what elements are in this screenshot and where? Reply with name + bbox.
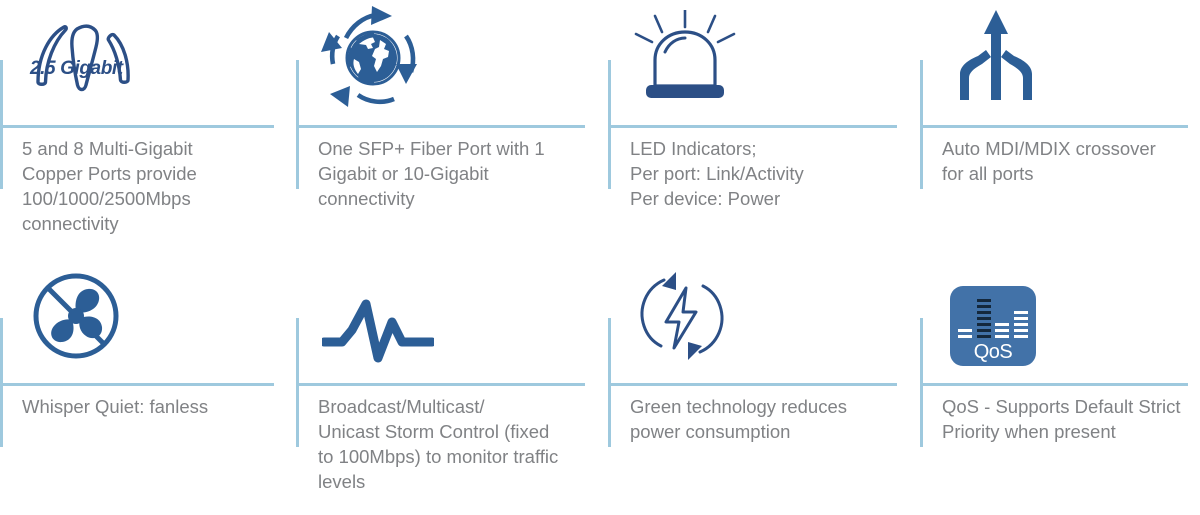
qos-icon-label: QoS <box>950 342 1036 362</box>
feature-caption: Green technology reduces power consumpti… <box>630 394 896 444</box>
beacon-light-icon <box>630 2 790 114</box>
feature-caption: 5 and 8 Multi-Gigabit Copper Ports provi… <box>22 136 274 236</box>
merge-arrows-icon <box>946 2 1106 114</box>
feature-card-qos-strict-priority: QoS QoS - Supports Default Strict Priori… <box>920 258 1200 515</box>
qos-bar-column <box>958 329 972 338</box>
feature-row-2: Whisper Quiet: fanless Broadcast/Multica… <box>0 258 1200 515</box>
feature-caption: Auto MDI/MDIX crossover for all ports <box>942 136 1200 186</box>
horizontal-divider <box>608 383 897 386</box>
feature-caption: Broadcast/Multicast/ Unicast Storm Contr… <box>318 394 584 494</box>
feature-card-auto-mdi-mdix: Auto MDI/MDIX crossover for all ports <box>920 0 1200 257</box>
feature-card-multi-gigabit-copper-ports: 2.5 Gigabit 5 and 8 Multi-Gigabit Copper… <box>0 0 296 257</box>
feature-card-green-technology: Green technology reduces power consumpti… <box>608 258 920 515</box>
feature-grid: 2.5 Gigabit 5 and 8 Multi-Gigabit Copper… <box>0 0 1200 515</box>
no-fan-icon <box>30 260 190 372</box>
waveform-pulse-icon <box>322 276 482 388</box>
feature-card-sfp-plus-fiber-port: One SFP+ Fiber Port with 1 Gigabit or 10… <box>296 0 608 257</box>
horizontal-divider <box>0 383 274 386</box>
feature-card-storm-control: Broadcast/Multicast/ Unicast Storm Contr… <box>296 258 608 515</box>
horizontal-divider <box>0 125 274 128</box>
qos-equalizer-bars <box>958 294 1028 338</box>
qos-equalizer-icon: QoS <box>950 270 1110 382</box>
globe-refresh-icon <box>318 2 478 114</box>
feature-card-whisper-quiet-fanless: Whisper Quiet: fanless <box>0 258 296 515</box>
qos-bar-column <box>995 323 1009 338</box>
horizontal-divider <box>296 125 585 128</box>
feature-caption: QoS - Supports Default Strict Priority w… <box>942 394 1200 444</box>
feature-caption: LED Indicators; Per port: Link/Activity … <box>630 136 896 211</box>
qos-bar-column <box>977 299 991 338</box>
energy-recycle-icon <box>634 260 794 372</box>
feature-caption: Whisper Quiet: fanless <box>22 394 274 419</box>
horizontal-divider <box>920 125 1188 128</box>
feature-caption: One SFP+ Fiber Port with 1 Gigabit or 10… <box>318 136 584 211</box>
feature-row-1: 2.5 Gigabit 5 and 8 Multi-Gigabit Copper… <box>0 0 1200 257</box>
feature-card-led-indicators: LED Indicators; Per port: Link/Activity … <box>608 0 920 257</box>
badge-label: 2.5 Gigabit <box>30 58 123 80</box>
horizontal-divider <box>920 383 1188 386</box>
qos-bar-column <box>1014 311 1028 338</box>
horizontal-divider <box>608 125 897 128</box>
